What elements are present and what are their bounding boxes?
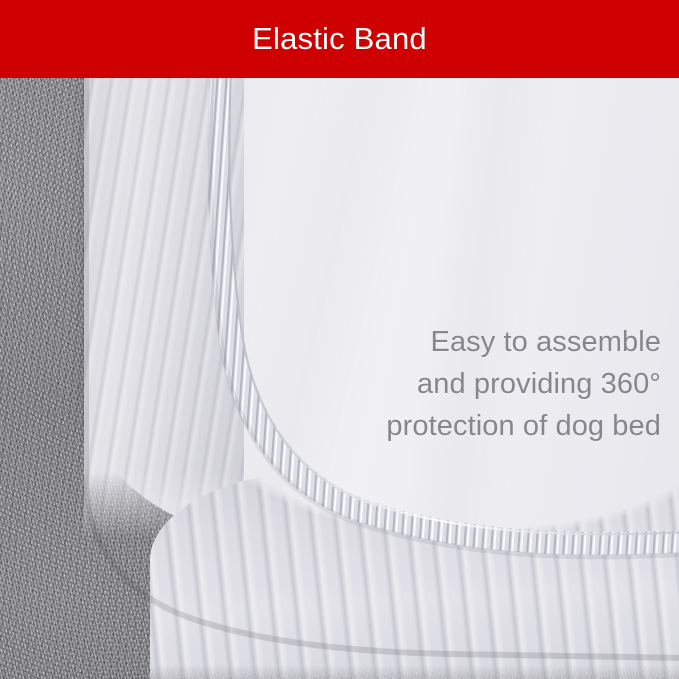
- caption-line-1: Easy to assemble: [311, 321, 661, 363]
- elastic-skirt-left: [84, 78, 244, 538]
- caption-text: Easy to assemble and providing 360° prot…: [311, 321, 661, 447]
- banner: Elastic Band: [0, 0, 679, 78]
- product-photo: Easy to assemble and providing 360° prot…: [0, 78, 679, 679]
- caption-line-2: and providing 360°: [311, 363, 661, 405]
- elastic-skirt-bottom-pleats: [150, 470, 679, 679]
- elastic-skirt-bottom: [150, 470, 679, 679]
- elastic-skirt-left-pleats: [84, 78, 244, 538]
- product-feature-image: Elastic Band: [0, 0, 679, 679]
- banner-title: Elastic Band: [252, 23, 427, 54]
- caption-line-3: protection of dog bed: [311, 405, 661, 447]
